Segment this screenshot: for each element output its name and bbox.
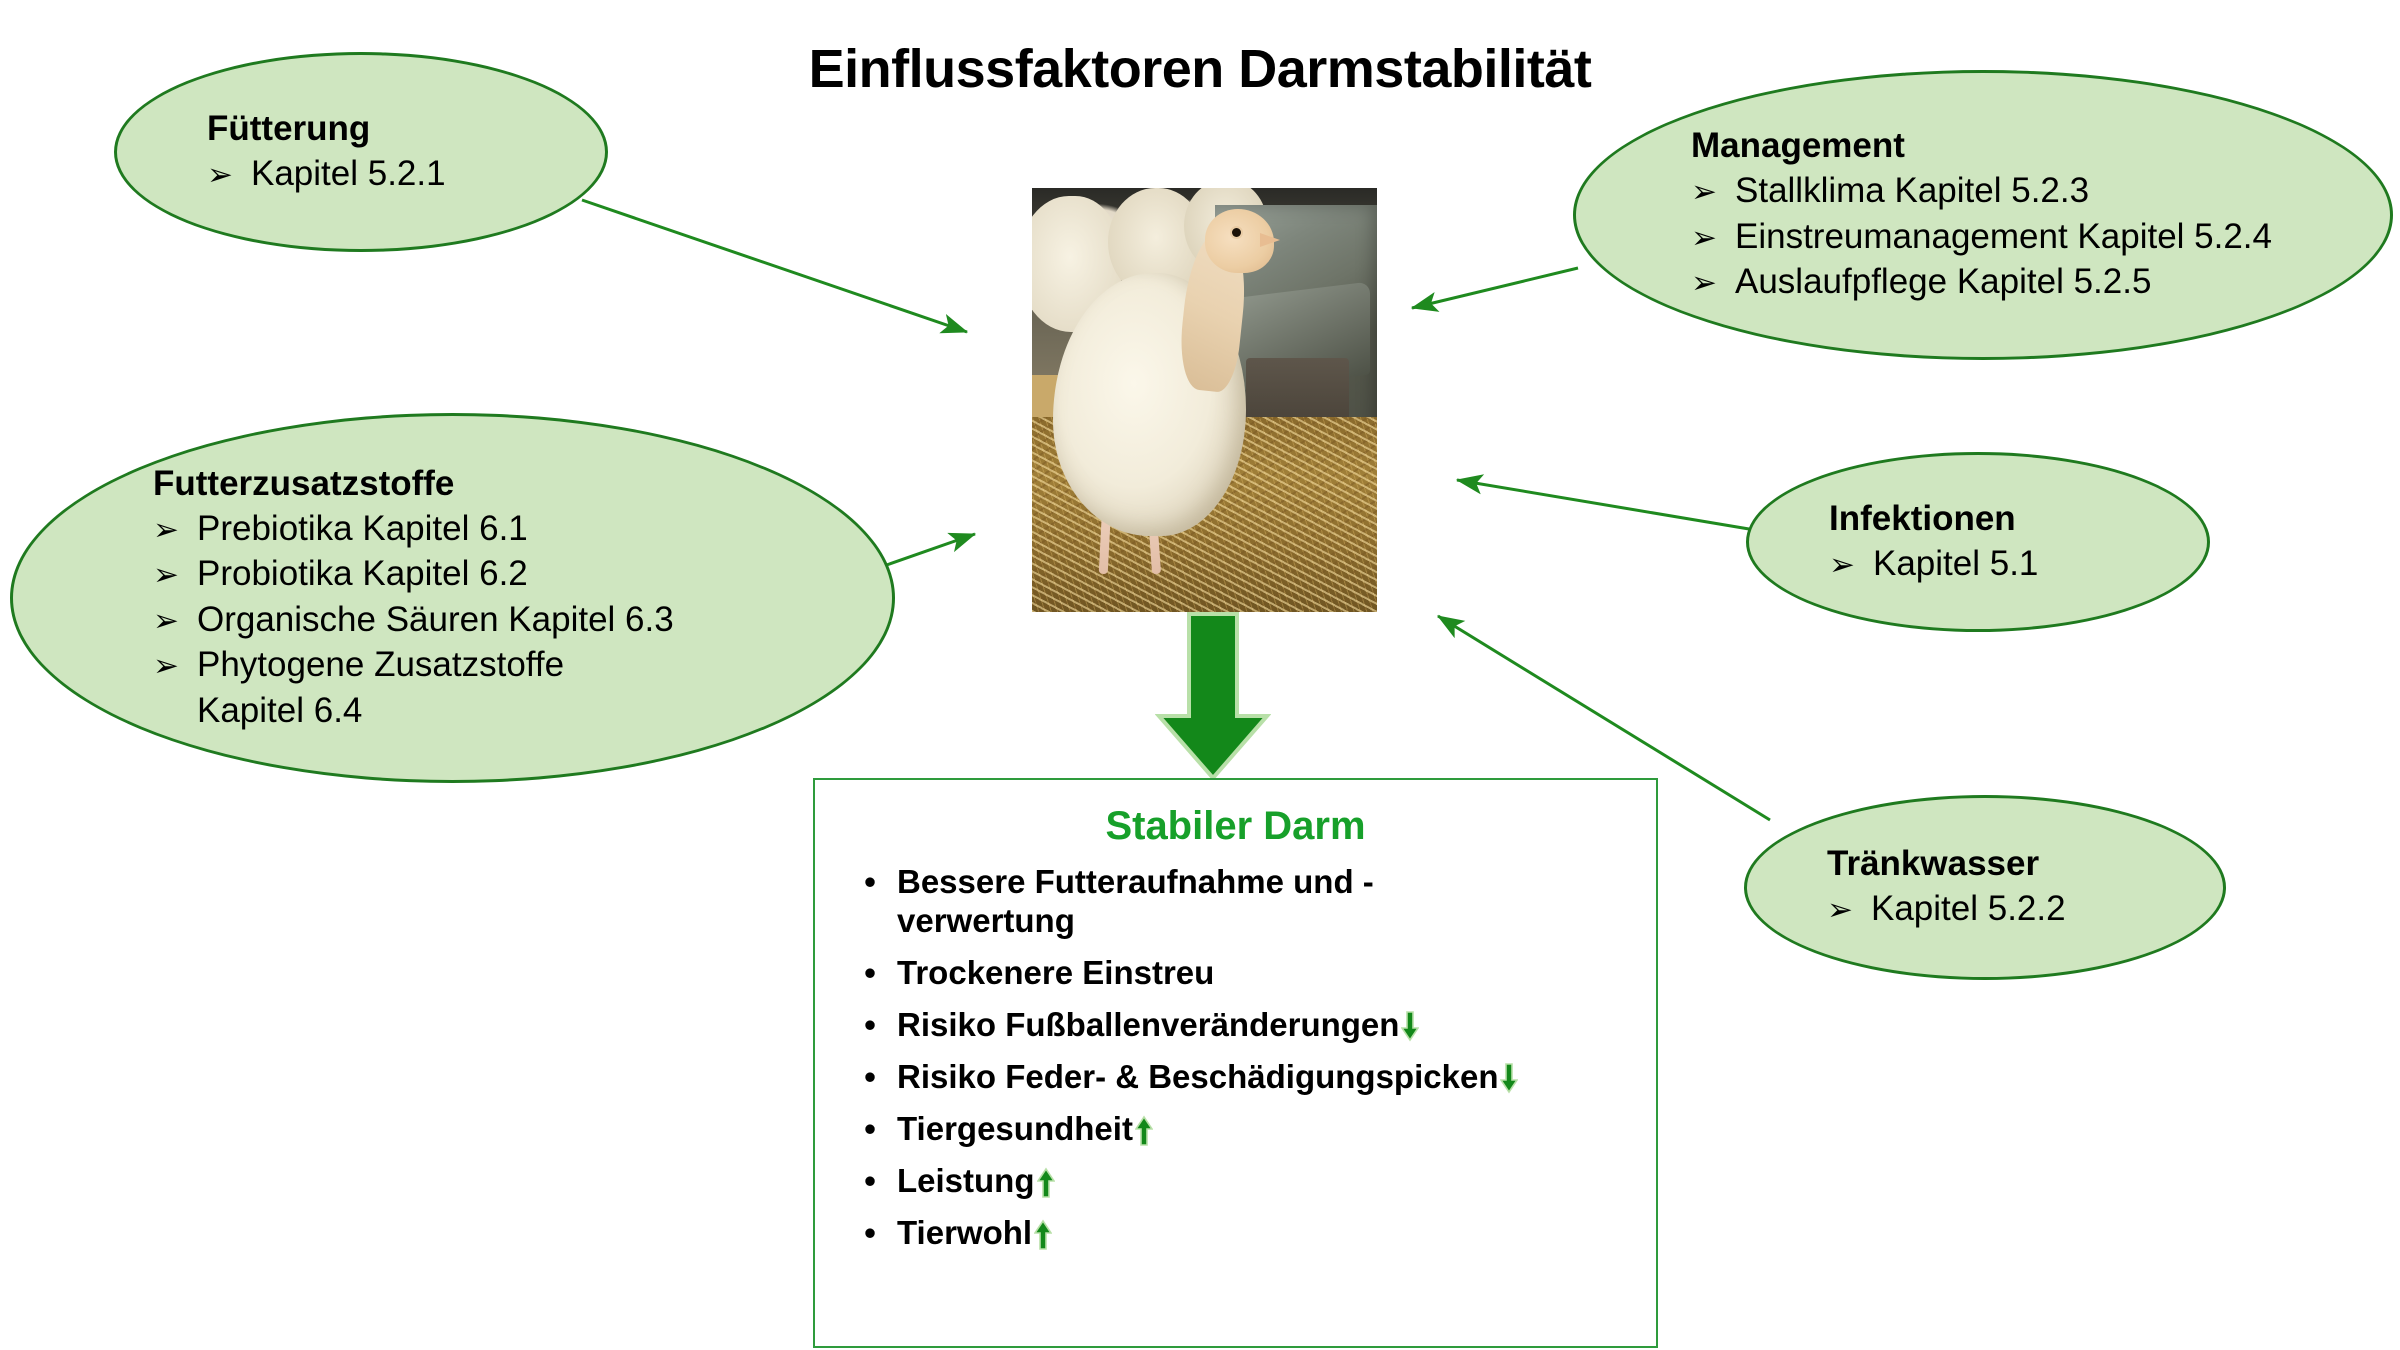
arrow-up-icon — [1135, 1115, 1153, 1146]
list-item-label: Probiotika Kapitel 6.2 — [197, 551, 528, 597]
list-item-label: Leistung — [897, 1162, 1527, 1201]
list-item: ➢ Kapitel 5.1 — [1829, 541, 2207, 587]
dot-bullet-icon: • — [843, 1162, 897, 1201]
node-futterzusatzstoffe[interactable]: Futterzusatzstoffe ➢ Prebiotika Kapitel … — [10, 413, 895, 783]
list-item: • Tiergesundheit — [843, 1110, 1656, 1149]
connector-fuetterung — [582, 200, 967, 332]
list-item-label: Auslaufpflege Kapitel 5.2.5 — [1735, 259, 2151, 305]
node-management-list: ➢ Stallklima Kapitel 5.2.3 ➢ Einstreuman… — [1691, 168, 2390, 305]
node-infektionen-list: ➢ Kapitel 5.1 — [1829, 541, 2207, 587]
list-item-label: Tiergesundheit — [897, 1110, 1527, 1149]
list-item-label: Kapitel 6.4 — [197, 688, 362, 734]
list-item: ➢ Einstreumanagement Kapitel 5.2.4 — [1691, 214, 2390, 260]
arrowhead-bullet-icon: ➢ — [1829, 545, 1873, 585]
node-fuetterung-list: ➢ Kapitel 5.2.1 — [207, 151, 605, 197]
list-item-label: Risiko Feder- & Beschädigungspicken — [897, 1058, 1527, 1097]
list-item-label: Bessere Futteraufnahme und -verwertung — [897, 863, 1527, 941]
list-item: ➢ Organische Säuren Kapitel 6.3 — [153, 597, 892, 643]
list-item: • Tierwohl — [843, 1214, 1656, 1253]
center-photo-turkeys — [1032, 188, 1377, 612]
list-item-label: Phytogene Zusatzstoffe — [197, 642, 564, 688]
arrow-down-icon — [1500, 1063, 1518, 1094]
dot-bullet-icon: • — [843, 954, 897, 993]
list-item: ➢ Phytogene Zusatzstoffe — [153, 642, 892, 688]
connector-infektionen — [1457, 480, 1755, 530]
arrowhead-bullet-icon: ➢ — [153, 601, 197, 641]
list-item-label: Trockenere Einstreu — [897, 954, 1527, 993]
dot-bullet-icon: • — [843, 1110, 897, 1149]
dot-bullet-icon: • — [843, 863, 897, 902]
node-fuetterung-title: Fütterung — [207, 108, 605, 151]
node-traenkwasser-list: ➢ Kapitel 5.2.2 — [1827, 886, 2223, 932]
list-item: • Leistung — [843, 1162, 1656, 1201]
arrow-up-icon — [1034, 1219, 1052, 1250]
list-item-label: Kapitel 5.1 — [1873, 541, 2038, 587]
dot-bullet-icon: • — [843, 1214, 897, 1253]
photo-turkey-beak — [1260, 233, 1280, 247]
list-item: • Bessere Futteraufnahme und -verwertung — [843, 863, 1656, 941]
list-item: • Risiko Fußballenveränderungen — [843, 1006, 1656, 1045]
list-item-label: Prebiotika Kapitel 6.1 — [197, 506, 528, 552]
node-futterzusatzstoffe-title: Futterzusatzstoffe — [153, 463, 892, 506]
arrowhead-bullet-icon: ➢ — [1691, 263, 1735, 303]
node-infektionen[interactable]: Infektionen ➢ Kapitel 5.1 — [1746, 452, 2210, 632]
outcome-title: Stabiler Darm — [815, 804, 1656, 849]
node-traenkwasser[interactable]: Tränkwasser ➢ Kapitel 5.2.2 — [1744, 795, 2226, 980]
node-management[interactable]: Management ➢ Stallklima Kapitel 5.2.3 ➢ … — [1573, 70, 2393, 360]
node-traenkwasser-title: Tränkwasser — [1827, 843, 2223, 886]
arrowhead-bullet-icon: ➢ — [153, 646, 197, 686]
list-item: • Risiko Feder- & Beschädigungspicken — [843, 1058, 1656, 1097]
node-fuetterung[interactable]: Fütterung ➢ Kapitel 5.2.1 — [114, 52, 608, 252]
node-futterzusatzstoffe-list: ➢ Prebiotika Kapitel 6.1 ➢ Probiotika Ka… — [153, 506, 892, 734]
arrow-up-icon — [1037, 1167, 1055, 1198]
list-item-label: Kapitel 5.2.1 — [251, 151, 446, 197]
node-management-title: Management — [1691, 125, 2390, 168]
list-item-label: Organische Säuren Kapitel 6.3 — [197, 597, 674, 643]
list-item-label: Einstreumanagement Kapitel 5.2.4 — [1735, 214, 2272, 260]
arrowhead-bullet-icon: ➢ — [153, 510, 197, 550]
connector-futterzusatzstoffe — [878, 534, 975, 568]
list-item: ➢ Auslaufpflege Kapitel 5.2.5 — [1691, 259, 2390, 305]
arrowhead-bullet-icon: ➢ — [1691, 172, 1735, 212]
arrow-down-icon — [1401, 1011, 1419, 1042]
list-item-label: Stallklima Kapitel 5.2.3 — [1735, 168, 2089, 214]
dot-bullet-icon: • — [843, 1006, 897, 1045]
list-item: ➢ Probiotika Kapitel 6.2 — [153, 551, 892, 597]
connector-management — [1412, 268, 1578, 308]
arrowhead-bullet-icon: ➢ — [1691, 218, 1735, 258]
outcome-list: • Bessere Futteraufnahme und -verwertung… — [815, 863, 1656, 1253]
list-item-label: Tierwohl — [897, 1214, 1527, 1253]
arrowhead-bullet-icon: ➢ — [207, 155, 251, 195]
list-item: • Trockenere Einstreu — [843, 954, 1656, 993]
dot-bullet-icon: • — [843, 1058, 897, 1097]
list-item-label: Risiko Fußballenveränderungen — [897, 1006, 1527, 1045]
arrowhead-bullet-icon: ➢ — [1827, 890, 1871, 930]
list-item: ➢ Kapitel 5.2.1 — [207, 151, 605, 197]
list-item: ➢ Kapitel 5.2.2 — [1827, 886, 2223, 932]
node-infektionen-title: Infektionen — [1829, 498, 2207, 541]
outcome-box-stabiler-darm[interactable]: Stabiler Darm • Bessere Futteraufnahme u… — [813, 778, 1658, 1348]
list-item-label: Kapitel 5.2.2 — [1871, 886, 2066, 932]
list-item: ➢ Stallklima Kapitel 5.2.3 — [1691, 168, 2390, 214]
main-down-arrow-icon — [1155, 612, 1271, 782]
list-item-continuation: Kapitel 6.4 — [153, 688, 892, 734]
list-item: ➢ Prebiotika Kapitel 6.1 — [153, 506, 892, 552]
arrowhead-bullet-icon: ➢ — [153, 555, 197, 595]
